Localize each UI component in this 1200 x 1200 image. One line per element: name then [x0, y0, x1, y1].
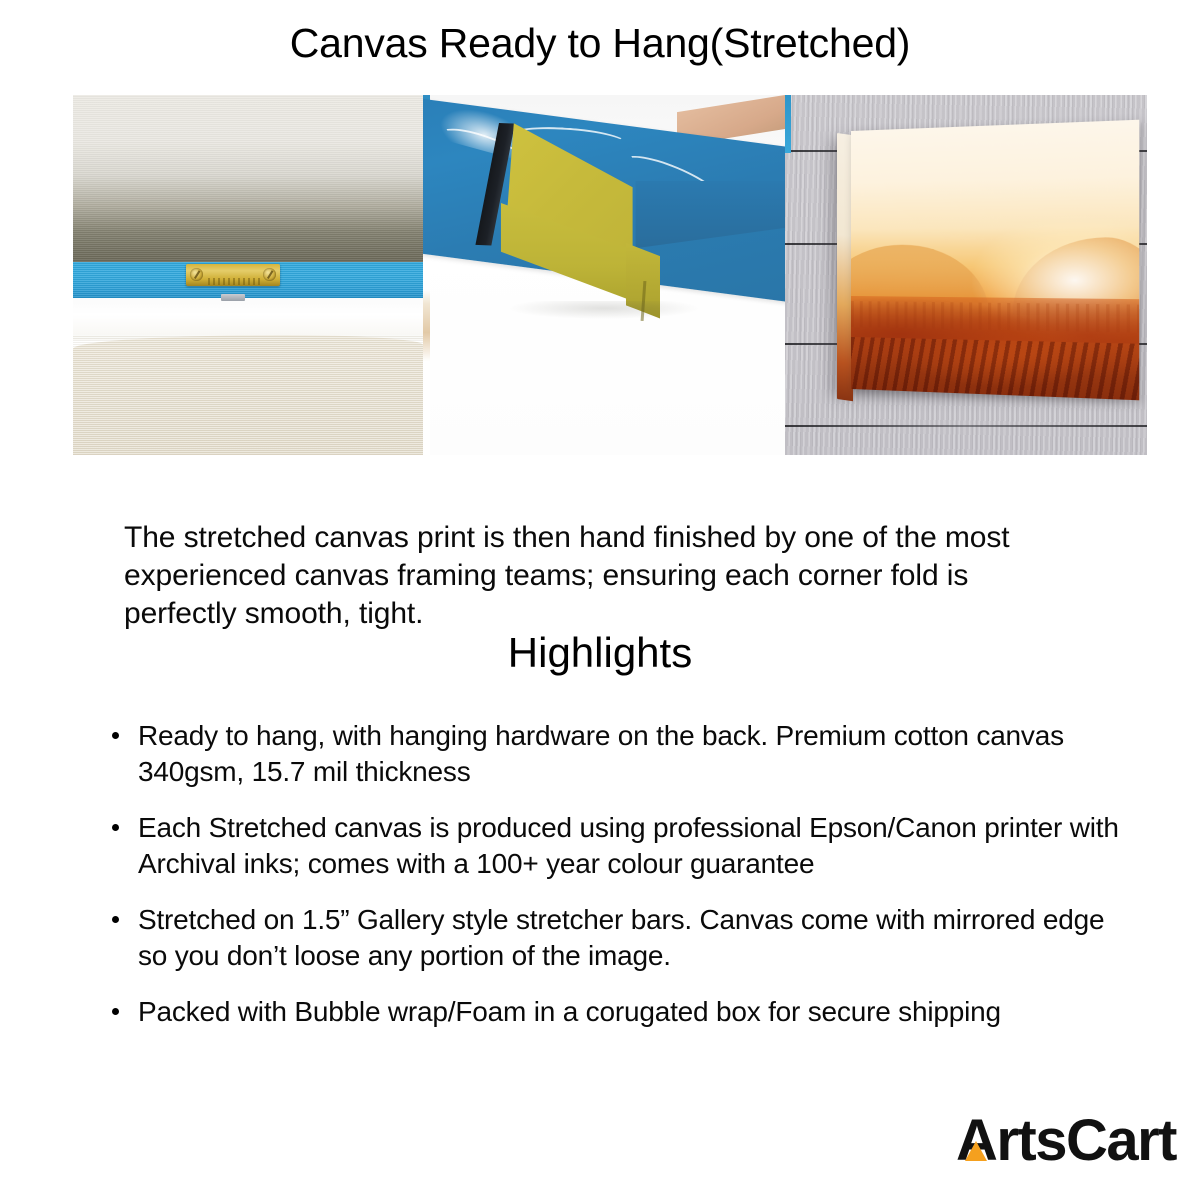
brand-logo: A rtsCart: [956, 1110, 1176, 1172]
highlights-heading: Highlights: [0, 627, 1200, 679]
photo3-left-sliver: [785, 95, 791, 153]
hanger-screw-right: [263, 268, 276, 281]
canvas-back-hanger-photo: [73, 95, 423, 455]
brand-logo-text: rtsCart: [996, 1110, 1176, 1172]
photo1-white-gap: [73, 298, 423, 340]
bullet-dot-icon: [112, 1008, 119, 1015]
page-title: Canvas Ready to Hang(Stretched): [0, 18, 1200, 68]
list-item: Ready to hang, with hanging hardware on …: [104, 718, 1124, 790]
intro-paragraph: The stretched canvas print is then hand …: [124, 519, 1074, 633]
list-item: Packed with Bubble wrap/Foam in a coruga…: [104, 994, 1124, 1030]
photo1-canvas-face: [73, 335, 423, 455]
photo3-canvas-print: [851, 120, 1139, 401]
photo1-metal-tab: [221, 294, 245, 301]
hanger-teeth: [205, 278, 261, 285]
list-item-text: Ready to hang, with hanging hardware on …: [138, 720, 1064, 787]
hanger-screw-left: [190, 268, 203, 281]
list-item-text: Stretched on 1.5” Gallery style stretche…: [138, 904, 1104, 971]
bullet-dot-icon: [112, 732, 119, 739]
list-item-text: Each Stretched canvas is produced using …: [138, 812, 1119, 879]
orange-triangle-icon: [965, 1141, 987, 1161]
list-item: Each Stretched canvas is produced using …: [104, 810, 1124, 882]
canvas-corner-fold-photo: [423, 95, 785, 455]
sawtooth-hanger-icon: [186, 264, 280, 286]
photo2-drop-shadow: [509, 301, 699, 319]
canvas-on-wall-photo: [785, 95, 1147, 455]
brand-logo-letter-a: A: [956, 1110, 996, 1172]
bullet-dot-icon: [112, 824, 119, 831]
list-item-text: Packed with Bubble wrap/Foam in a coruga…: [138, 996, 1001, 1027]
highlights-list: Ready to hang, with hanging hardware on …: [104, 718, 1124, 1050]
photo3-plank-line-4: [785, 425, 1147, 427]
photo1-background: [73, 95, 423, 262]
product-photo-strip: [73, 95, 1147, 455]
list-item: Stretched on 1.5” Gallery style stretche…: [104, 902, 1124, 974]
bullet-dot-icon: [112, 916, 119, 923]
